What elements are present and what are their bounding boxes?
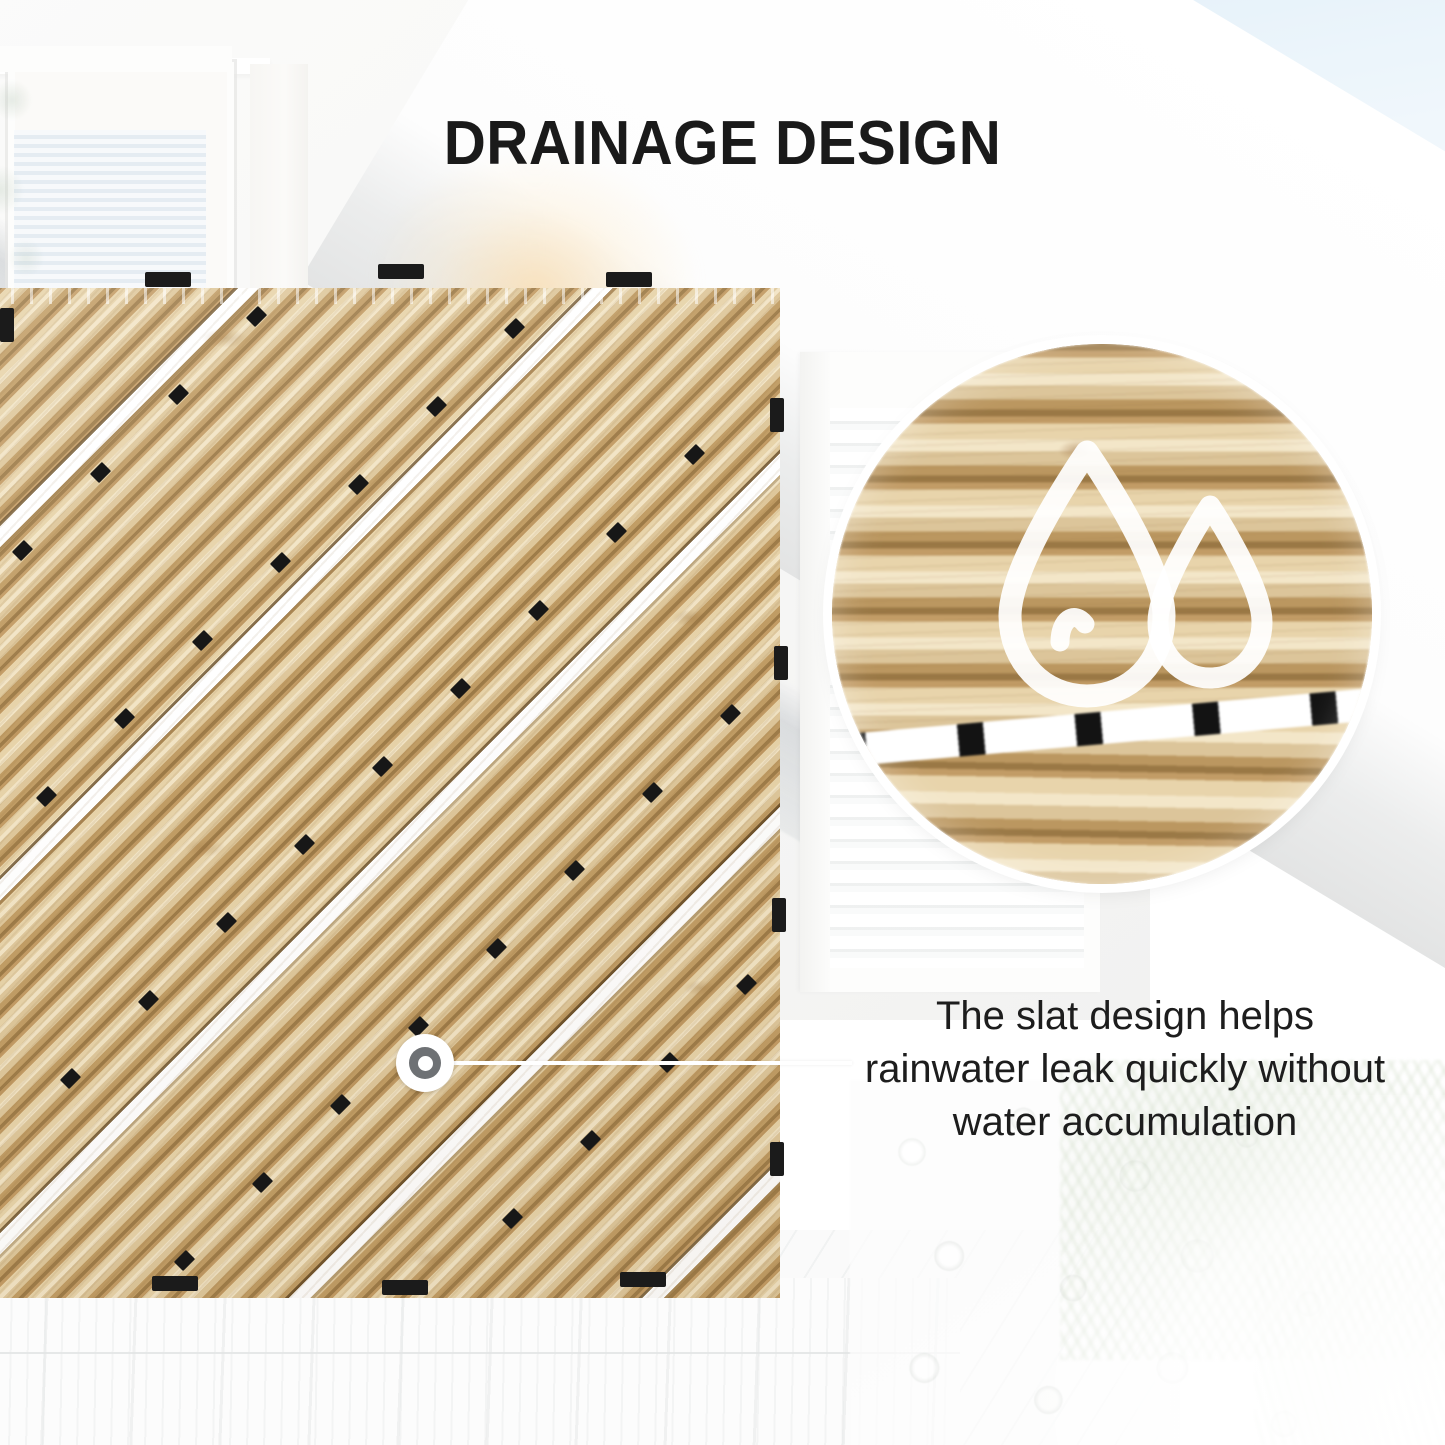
- callout-marker-icon: [396, 1034, 454, 1092]
- connector-tab: [0, 308, 14, 342]
- deck-seam: [0, 1352, 960, 1354]
- page-title: DRAINAGE DESIGN: [43, 108, 1401, 179]
- callout-leader-line: [440, 1061, 852, 1065]
- connector-tab: [378, 264, 424, 279]
- connector-tab: [774, 646, 788, 680]
- water-drop-icon: [1010, 452, 1164, 696]
- callout-marker-dot: [418, 1056, 433, 1071]
- connector-tab: [145, 272, 191, 287]
- connector-tab: [770, 398, 784, 432]
- connector-tab: [152, 1276, 198, 1291]
- water-drop-small-icon: [1158, 506, 1262, 678]
- connector-tab: [606, 272, 652, 287]
- callout-marker-ring: [409, 1047, 441, 1079]
- water-drop-icon-group: [982, 434, 1312, 764]
- water-drop-curl-icon: [1060, 618, 1085, 642]
- marketing-image: DRAINAGE DESIGN: [0, 0, 1445, 1445]
- magnified-detail-circle: [832, 344, 1372, 884]
- shutter-rail: [800, 352, 830, 992]
- wall-corner: [250, 64, 308, 304]
- connector-tab: [382, 1280, 428, 1295]
- connector-tab: [620, 1272, 666, 1287]
- feature-caption: The slat design helps rainwater leak qui…: [860, 990, 1390, 1150]
- deck-grain: [0, 1278, 960, 1445]
- tile-shading: [0, 288, 780, 1298]
- deck-tile-product: [0, 288, 780, 1298]
- connector-tab: [770, 1142, 784, 1176]
- connector-tab: [772, 898, 786, 932]
- tile-top-edge: [0, 288, 780, 304]
